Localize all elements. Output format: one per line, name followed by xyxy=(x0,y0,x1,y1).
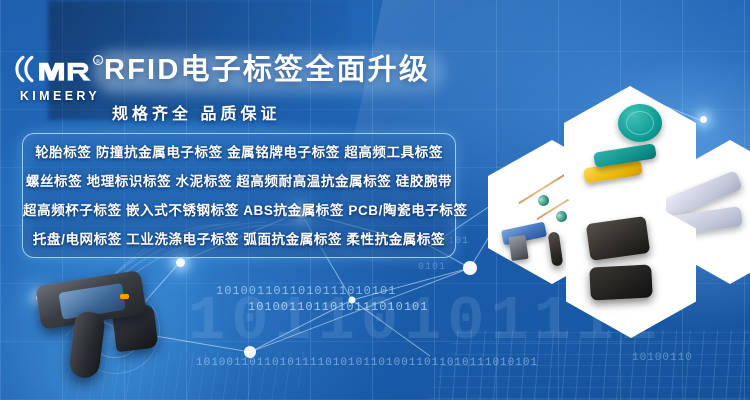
network-node xyxy=(700,116,707,123)
tag-row: 托盘/电网标签 工业洗涤电子标签 弧面抗金属标签 柔性抗金属标签 xyxy=(23,225,455,254)
network-node xyxy=(176,258,185,267)
headline-subtitle: 规格齐全 品质保证 xyxy=(112,100,280,124)
tag-row: 超高频杯子标签 嵌入式不锈钢标签 ABS抗金属标签 PCB/陶瓷电子标签 xyxy=(23,196,455,225)
tag-row: 轮胎标签 防撞抗金属电子标签 金属铭牌电子标签 超高频工具标签 xyxy=(23,138,455,167)
teal-round-disc-tag xyxy=(618,104,662,142)
black-abs-anti-metal-tag xyxy=(586,216,651,261)
black-bar-tag xyxy=(548,231,564,266)
black-tray-tag xyxy=(589,264,653,300)
screw-tag-body xyxy=(508,235,528,261)
reader-indicator-light xyxy=(120,294,129,299)
glass-tube-tag-body xyxy=(554,209,569,224)
page-title: RFID电子标签全面升级 xyxy=(104,48,430,92)
tag-row: 螺丝标签 地理标识标签 水泥标签 超高频耐高温抗金属标签 硅胶腕带 xyxy=(23,167,455,196)
brand-logo[interactable]: R KIMEERY xyxy=(14,52,106,103)
glass-tube-tag-body xyxy=(536,193,551,208)
background-perspective-grid xyxy=(424,330,750,400)
headline-block: RFID电子标签全面升级 xyxy=(104,48,430,92)
handheld-uhf-rfid-reader xyxy=(32,272,158,380)
binary-text-mid-2: 1010011011010111010101 xyxy=(248,300,428,314)
brand-wordmark: KIMEERY xyxy=(14,89,106,103)
rfid-promo-banner: 10110101111 1010011011010111010101 10100… xyxy=(0,0,750,400)
product-tag-panel: 轮胎标签 防撞抗金属电子标签 金属铭牌电子标签 超高频工具标签 螺丝标签 地理标… xyxy=(22,133,456,258)
